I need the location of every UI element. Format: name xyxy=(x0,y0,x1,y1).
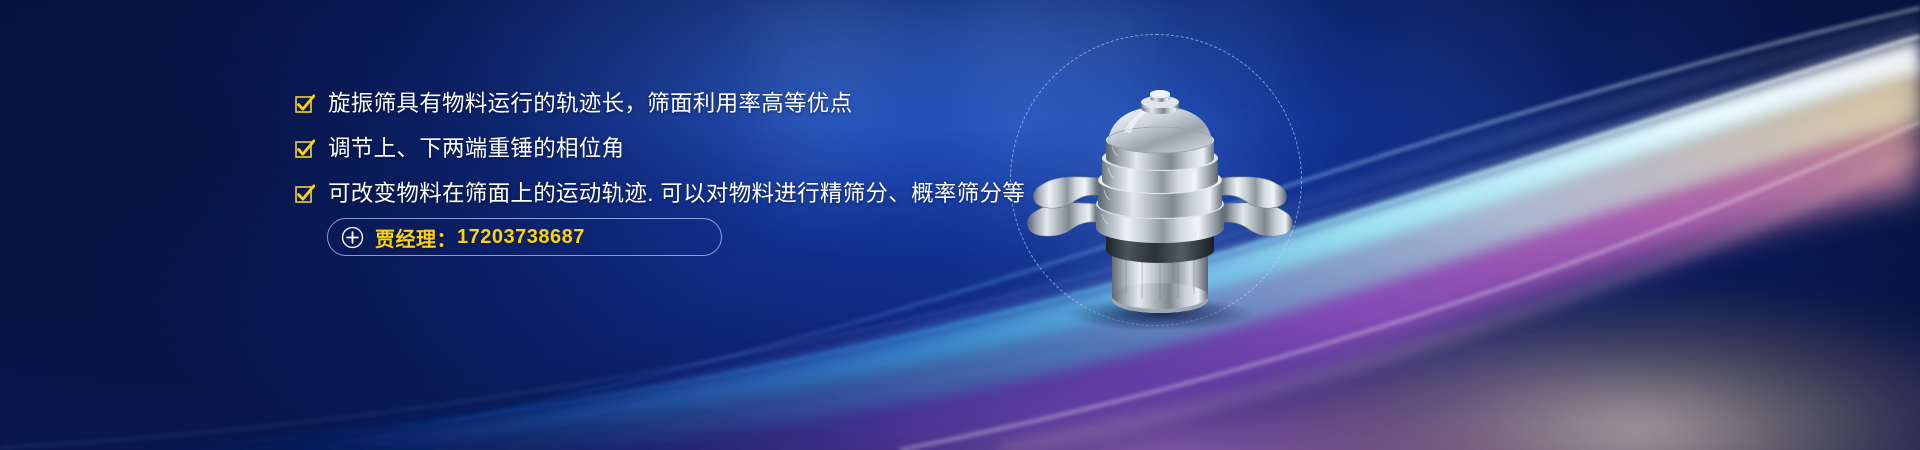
plus-circle-icon xyxy=(341,226,364,249)
list-item: 旋振筛具有物料运行的轨迹长，筛面利用率高等优点 xyxy=(295,88,1055,119)
contact-label: 贾经理： xyxy=(375,223,457,252)
list-item-label: 旋振筛具有物料运行的轨迹长，筛面利用率高等优点 xyxy=(328,88,852,119)
promo-banner: 旋振筛具有物料运行的轨迹长，筛面利用率高等优点 调节上、下两端重锤的相位角 可改… xyxy=(0,0,1920,450)
product-illustration xyxy=(1000,28,1320,338)
vibrating-screen-machine xyxy=(1000,28,1320,338)
bullet-list: 旋振筛具有物料运行的轨迹长，筛面利用率高等优点 调节上、下两端重锤的相位角 可改… xyxy=(295,88,1055,223)
list-item: 调节上、下两端重锤的相位角 xyxy=(295,133,1055,164)
checkbox-checked-icon xyxy=(295,184,315,204)
contact-phone-button[interactable]: 贾经理： 17203738687 xyxy=(327,218,722,256)
contact-phone-number: 17203738687 xyxy=(457,226,585,249)
background-vignette xyxy=(0,0,1920,450)
checkbox-checked-icon xyxy=(295,94,315,114)
list-item-label: 可改变物料在筛面上的运动轨迹. 可以对物料进行精筛分、概率筛分等 xyxy=(328,178,1025,209)
checkbox-checked-icon xyxy=(295,139,315,159)
list-item: 可改变物料在筛面上的运动轨迹. 可以对物料进行精筛分、概率筛分等 xyxy=(295,178,1055,209)
list-item-label: 调节上、下两端重锤的相位角 xyxy=(328,133,624,164)
